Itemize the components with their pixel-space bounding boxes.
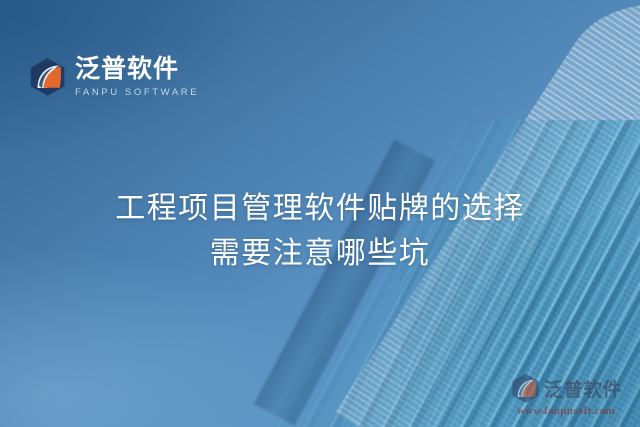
brand-logo: 泛普软件 FANPU SOFTWARE — [28, 56, 199, 98]
watermark: 泛普软件 www.fanpusoft.com — [500, 373, 632, 417]
headline-line-2: 需要注意哪些坑 — [0, 231, 640, 276]
brand-name-en: FANPU SOFTWARE — [75, 88, 199, 98]
headline: 工程项目管理软件贴牌的选择 需要注意哪些坑 — [0, 186, 640, 276]
watermark-url: www.fanpusoft.com — [517, 405, 615, 417]
headline-line-1: 工程项目管理软件贴牌的选择 — [0, 186, 640, 231]
watermark-brand-name: 泛普软件 — [544, 375, 622, 402]
brand-name-cn: 泛普软件 — [75, 56, 199, 81]
fanpu-hexagon-arc-logo-icon — [28, 57, 66, 97]
fanpu-hexagon-arc-logo-icon — [510, 373, 540, 404]
banner-image: 泛普软件 FANPU SOFTWARE 工程项目管理软件贴牌的选择 需要注意哪些… — [0, 0, 640, 427]
watermark-row: 泛普软件 — [510, 373, 622, 404]
